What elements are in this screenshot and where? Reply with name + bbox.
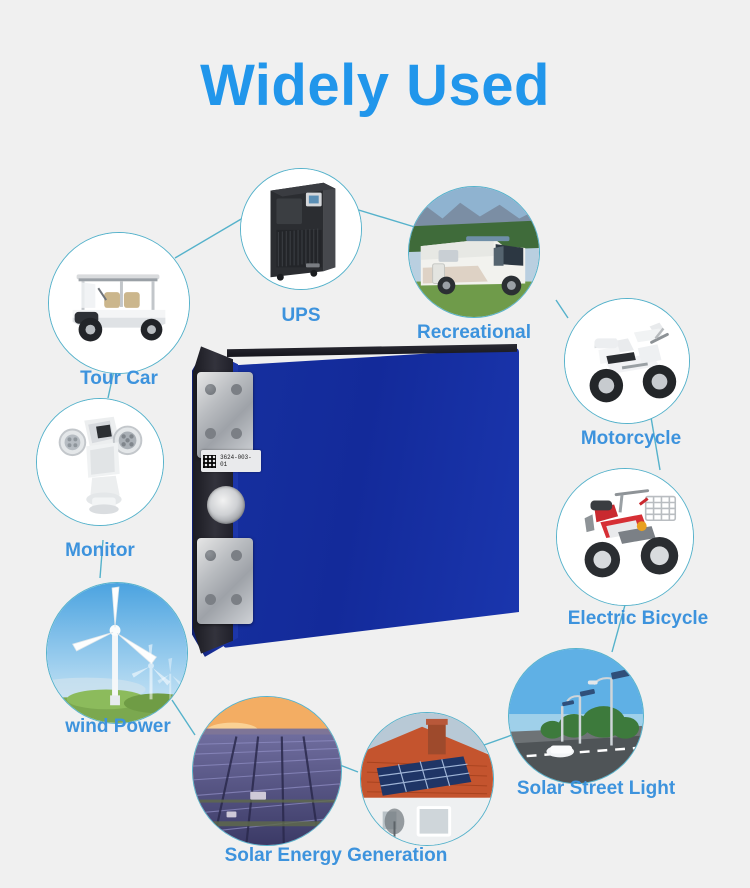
motorcycle-image bbox=[564, 298, 690, 424]
golf-cart-illustration bbox=[49, 233, 189, 373]
recreational-vehicle-image bbox=[408, 186, 540, 318]
solar-energy-generation-label: Solar Energy Generation bbox=[186, 845, 486, 866]
wind-power-label: wind Power bbox=[28, 716, 208, 737]
wind-power-image bbox=[46, 582, 188, 724]
tour-car-image bbox=[48, 232, 190, 374]
battery-safety-vent bbox=[207, 486, 245, 524]
motorcycle-label: Motorcycle bbox=[556, 428, 706, 449]
product-battery-cell: 3624-003-01 bbox=[183, 338, 533, 678]
battery-serial-label: 3624-003-01 bbox=[201, 450, 261, 472]
wind-turbine-photo bbox=[47, 583, 187, 723]
infographic-canvas: Widely Used bbox=[0, 0, 750, 888]
battery-serial-text: 3624-003-01 bbox=[220, 454, 257, 468]
battery-terminal-negative bbox=[197, 538, 253, 624]
solar-farm-photo bbox=[193, 697, 341, 845]
qr-code-icon bbox=[203, 455, 216, 468]
ups-label: UPS bbox=[240, 305, 362, 326]
page-title: Widely Used bbox=[0, 52, 750, 119]
scooter-illustration bbox=[565, 299, 689, 423]
battery-terminal-positive bbox=[197, 372, 253, 458]
motorhome-photo bbox=[409, 187, 539, 317]
ups-image bbox=[240, 168, 362, 290]
house-solar-panels-photo bbox=[361, 713, 493, 845]
ups-cabinet-illustration bbox=[241, 169, 361, 289]
electric-bicycle-label: Electric Bicycle bbox=[548, 608, 728, 629]
monitor-label: Monitor bbox=[22, 540, 178, 561]
battery-front-face bbox=[223, 348, 519, 648]
ptz-camera-illustration bbox=[37, 399, 163, 525]
monitor-image bbox=[36, 398, 164, 526]
solar-farm-image bbox=[192, 696, 342, 846]
e-bike-illustration bbox=[557, 469, 693, 605]
solar-street-light-label: Solar Street Light bbox=[496, 778, 696, 799]
electric-bicycle-image bbox=[556, 468, 694, 606]
rooftop-solar-image bbox=[360, 712, 494, 846]
